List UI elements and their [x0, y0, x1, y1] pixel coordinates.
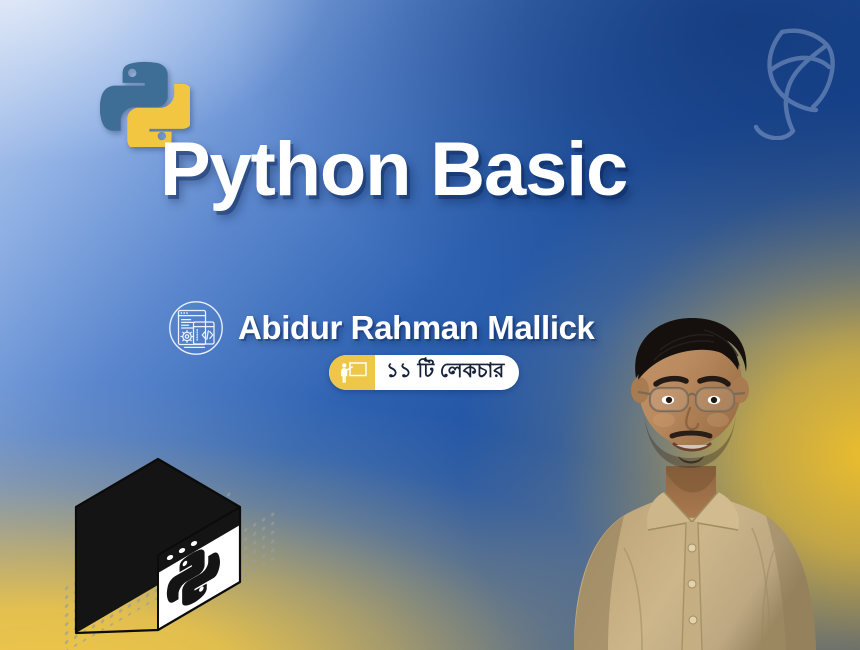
code-window-gear-icon	[168, 300, 224, 356]
instructor-portrait	[568, 316, 860, 650]
page-title: Python Basic	[160, 130, 627, 210]
isometric-browser-window-python-icon	[58, 437, 290, 650]
instructor-block: Abidur Rahman Mallick ১১ টি লেকচার	[168, 300, 628, 356]
teacher-whiteboard-icon	[329, 355, 375, 390]
brand-watermark-logo	[741, 14, 845, 140]
thumbnail-canvas: Python Basic	[0, 0, 860, 650]
lecture-count-text: ১১ টি লেকচার	[375, 355, 519, 390]
instructor-name-row: Abidur Rahman Mallick	[168, 300, 628, 356]
instructor-name: Abidur Rahman Mallick	[238, 309, 595, 347]
lecture-count-badge: ১১ টি লেকচার	[329, 355, 519, 390]
